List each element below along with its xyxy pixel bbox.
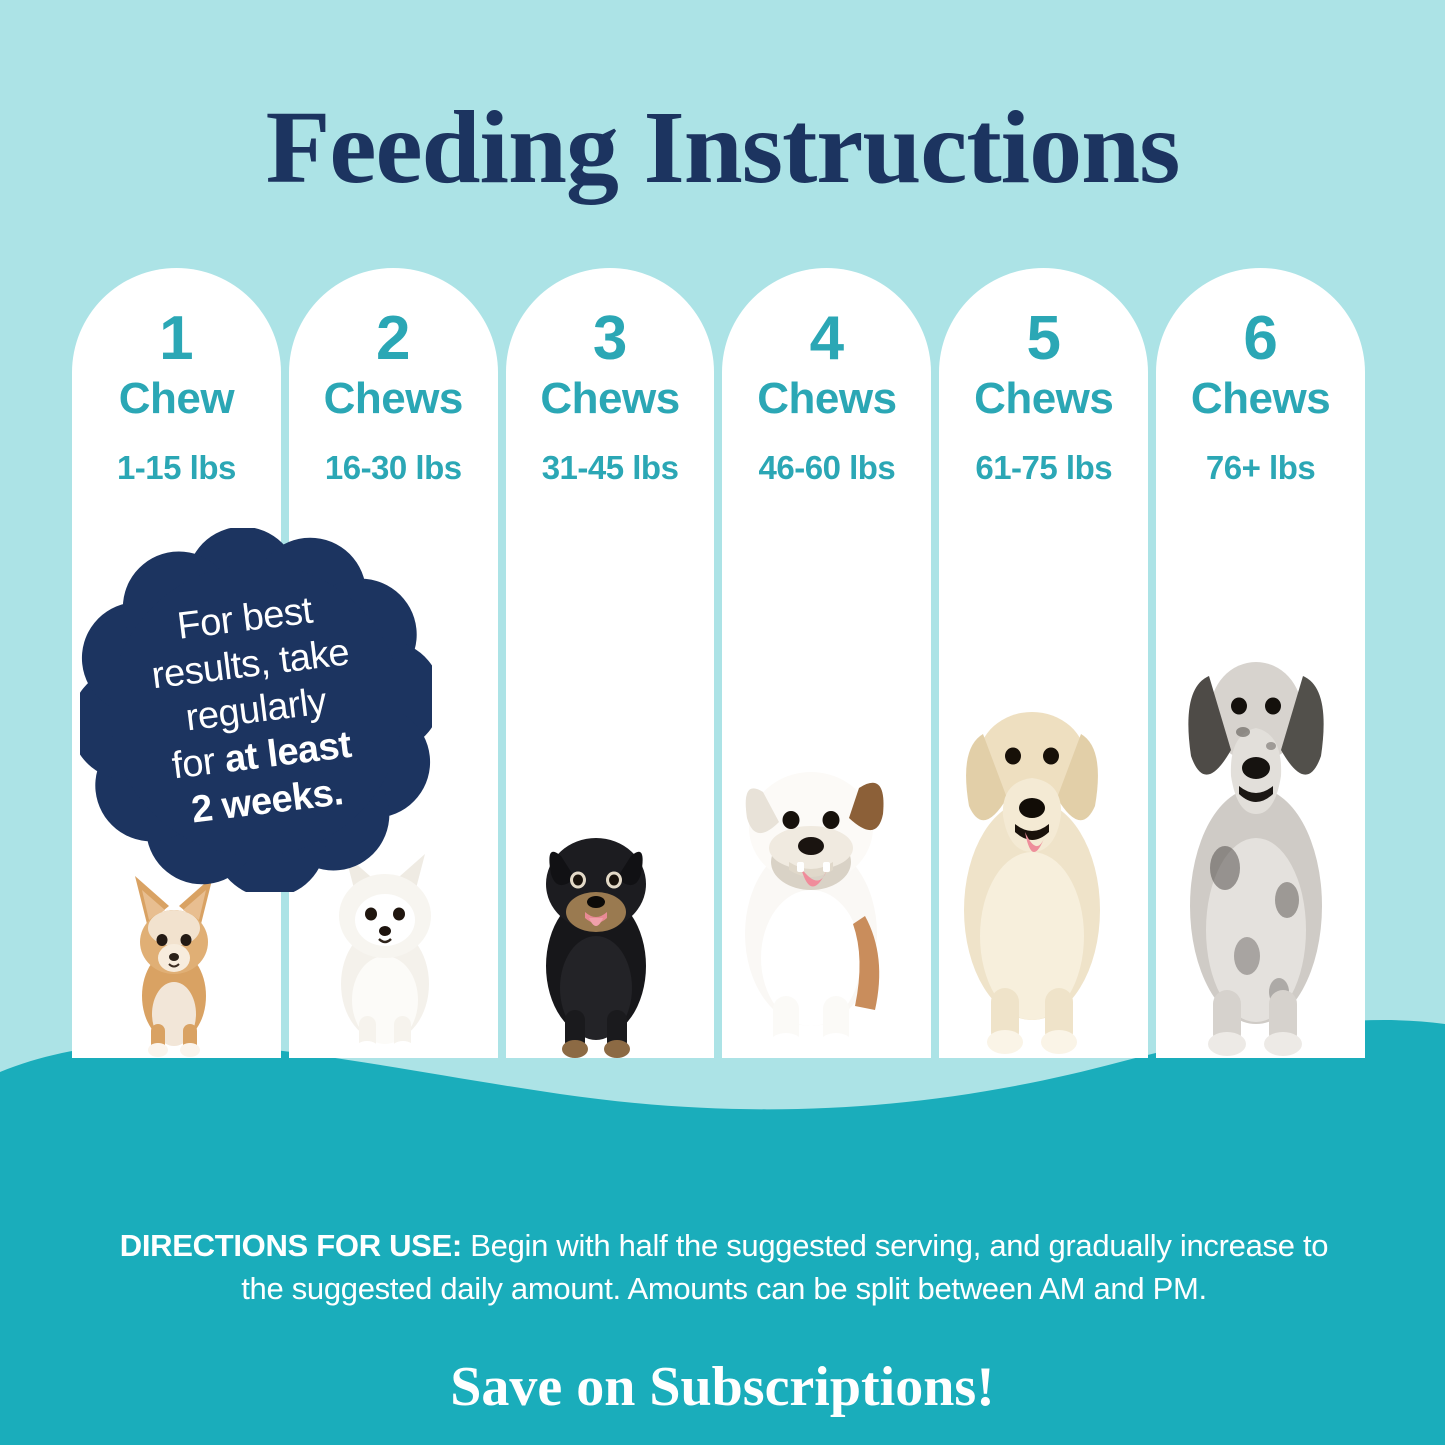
dosing-card-6[interactable]: 6 Chews 76+ lbs <box>1156 268 1365 1058</box>
dose-weight-range: 61-75 lbs <box>939 448 1148 488</box>
dose-chews-label: Chews <box>506 372 715 426</box>
dose-number: 6 <box>1156 308 1365 370</box>
dose-number: 4 <box>722 308 931 370</box>
dose-chews-label: Chew <box>72 372 281 426</box>
badge-line-4-prefix: for <box>170 739 228 787</box>
dose-number: 1 <box>72 308 281 370</box>
dose-weight-range: 76+ lbs <box>1156 448 1365 488</box>
dose-weight-range: 31-45 lbs <box>506 448 715 488</box>
page-title: Feeding Instructions <box>0 96 1445 200</box>
dose-weight-range: 16-30 lbs <box>289 448 498 488</box>
dose-chews-label: Chews <box>939 372 1148 426</box>
dosing-card-4[interactable]: 4 Chews 46-60 lbs <box>722 268 931 1058</box>
badge-text: For best results, take regularly for at … <box>59 508 453 912</box>
dose-weight-range: 1-15 lbs <box>72 448 281 488</box>
directions-label: DIRECTIONS FOR USE: <box>120 1228 462 1263</box>
dose-number: 3 <box>506 308 715 370</box>
dosing-card-5[interactable]: 5 Chews 61-75 lbs <box>939 268 1148 1058</box>
save-on-subscriptions-cta[interactable]: Save on Subscriptions! <box>0 1358 1445 1416</box>
dose-weight-range: 46-60 lbs <box>722 448 931 488</box>
dosing-card-3[interactable]: 3 Chews 31-45 lbs <box>506 268 715 1058</box>
dose-chews-label: Chews <box>289 372 498 426</box>
directions-for-use: DIRECTIONS FOR USE: Begin with half the … <box>104 1224 1344 1310</box>
dose-chews-label: Chews <box>1156 372 1365 426</box>
dose-number: 2 <box>289 308 498 370</box>
dose-number: 5 <box>939 308 1148 370</box>
best-results-badge: For best results, take regularly for at … <box>80 528 432 892</box>
dose-chews-label: Chews <box>722 372 931 426</box>
